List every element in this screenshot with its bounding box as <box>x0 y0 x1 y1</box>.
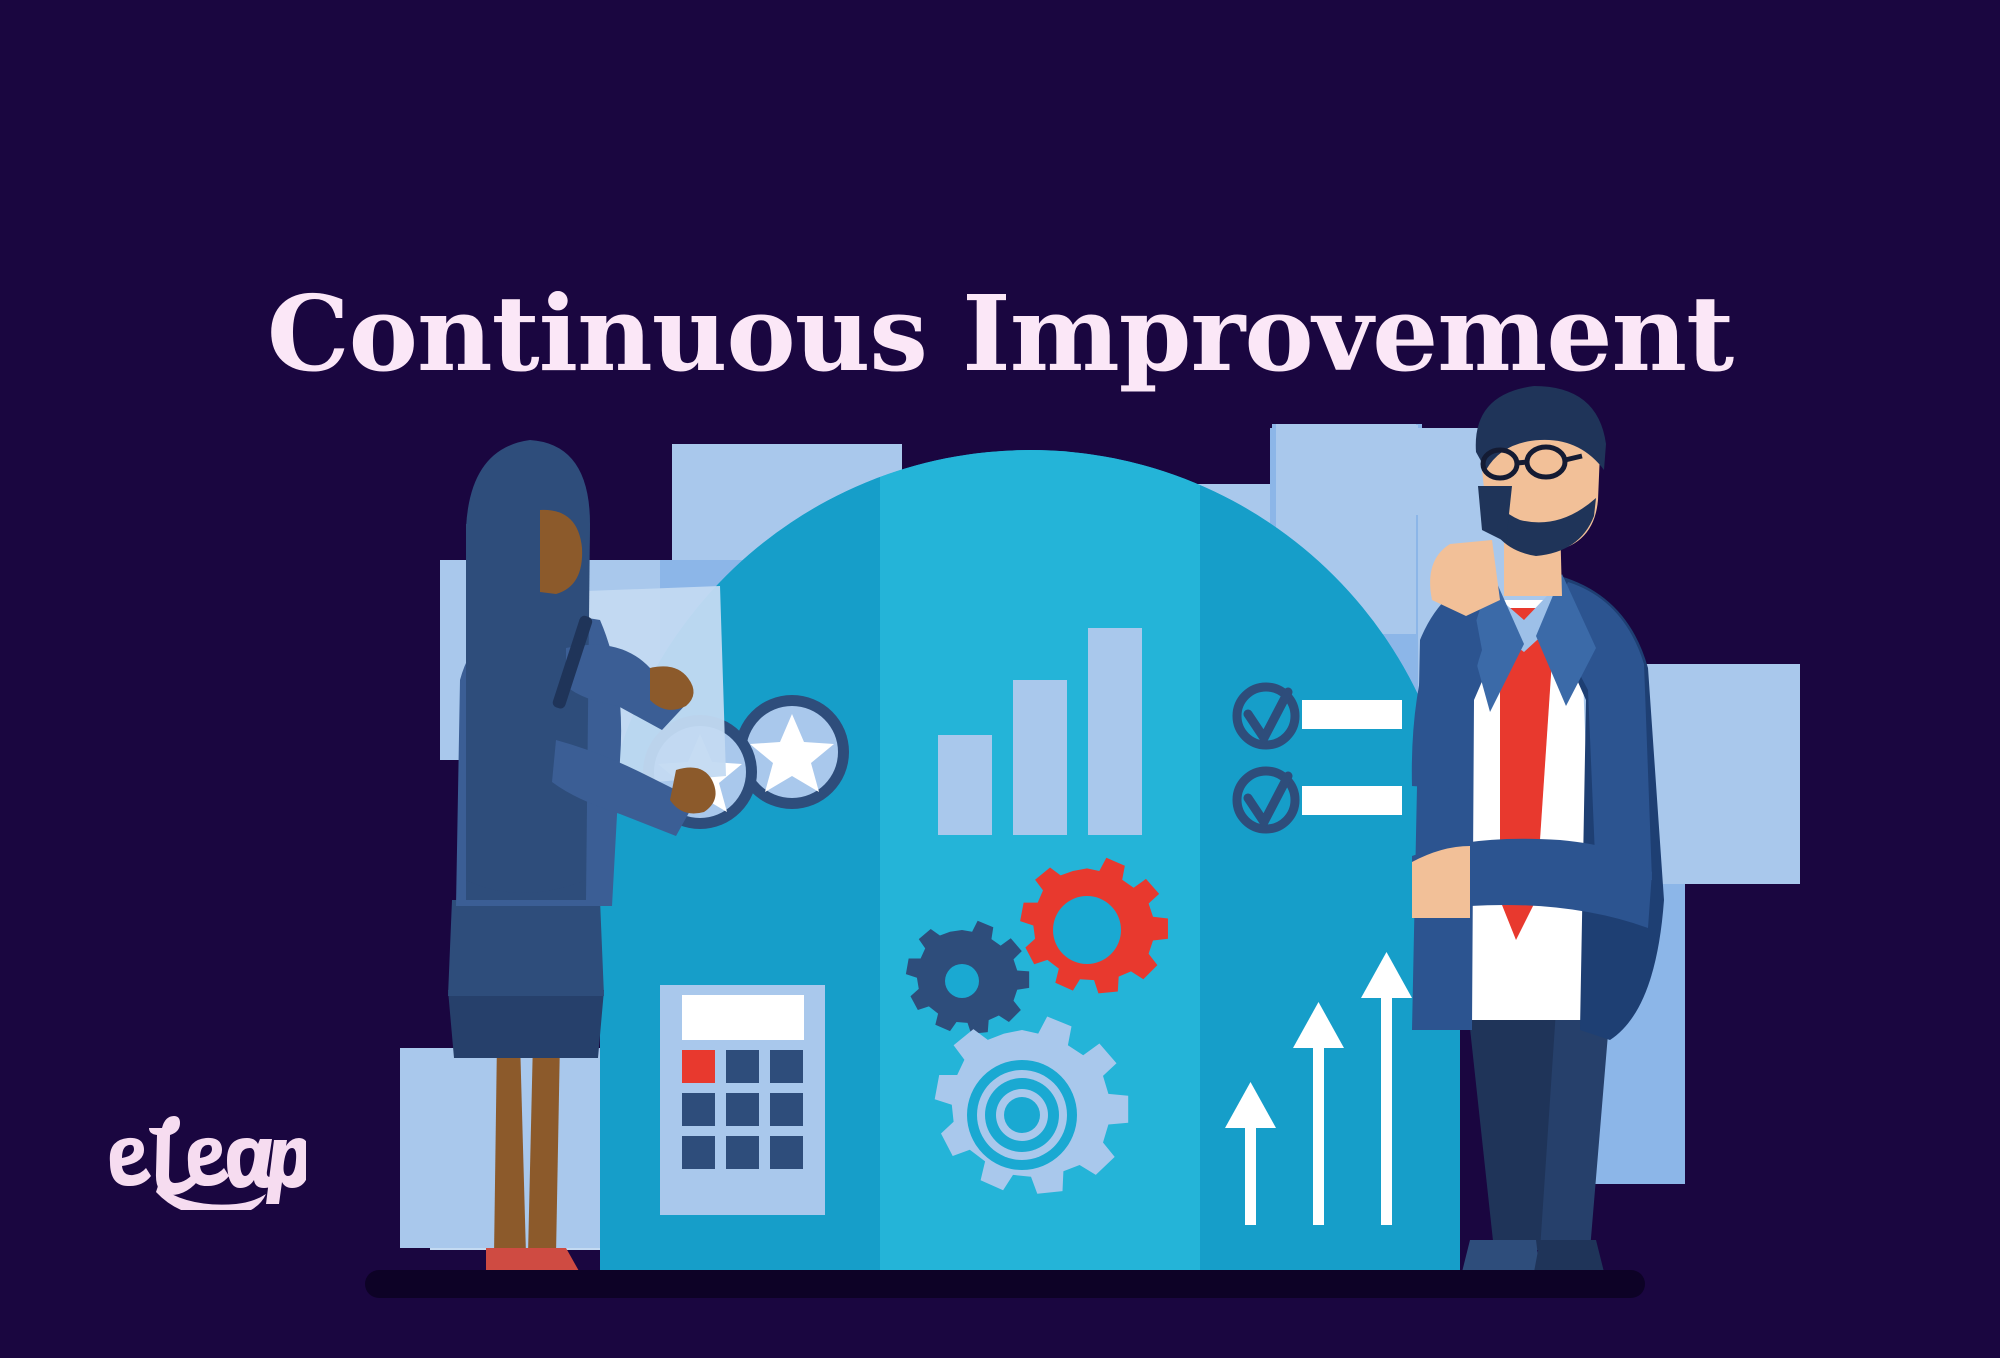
logo-letter-p <box>266 1138 306 1204</box>
eleap-logo-mark <box>96 1100 306 1210</box>
eleap-logo[interactable] <box>96 1100 306 1210</box>
check-line-2 <box>1302 786 1402 815</box>
logo-letter-e2 <box>188 1138 229 1186</box>
calculator-key <box>726 1093 759 1126</box>
calculator-key <box>726 1136 759 1169</box>
page-title: Continuous Improvement <box>0 282 2000 386</box>
ground-shadow <box>365 1270 1645 1298</box>
calculator-screen <box>682 995 804 1040</box>
bg-rect-4b <box>1300 425 1418 515</box>
bar-3 <box>1088 628 1142 835</box>
calculator-key <box>770 1093 803 1126</box>
logo-letter-e <box>110 1138 151 1186</box>
bar-1 <box>938 735 992 835</box>
calculator-key <box>682 1093 715 1126</box>
woman-torso-lower <box>448 900 604 996</box>
man-shoe-right <box>1534 1240 1604 1272</box>
calculator-key <box>770 1050 803 1083</box>
woman-leg-right <box>528 1040 560 1255</box>
calculator-key <box>726 1050 759 1083</box>
calculator-graphic <box>660 985 825 1215</box>
man-shoe-left <box>1462 1240 1540 1272</box>
woman-skirt <box>448 990 604 1058</box>
check-line-1 <box>1302 700 1402 729</box>
calculator-key-accent <box>682 1050 715 1083</box>
bar-2 <box>1013 680 1067 835</box>
poster-canvas: Continuous Improvement <box>0 0 2000 1358</box>
calculator-key <box>682 1136 715 1169</box>
calculator-key <box>770 1136 803 1169</box>
